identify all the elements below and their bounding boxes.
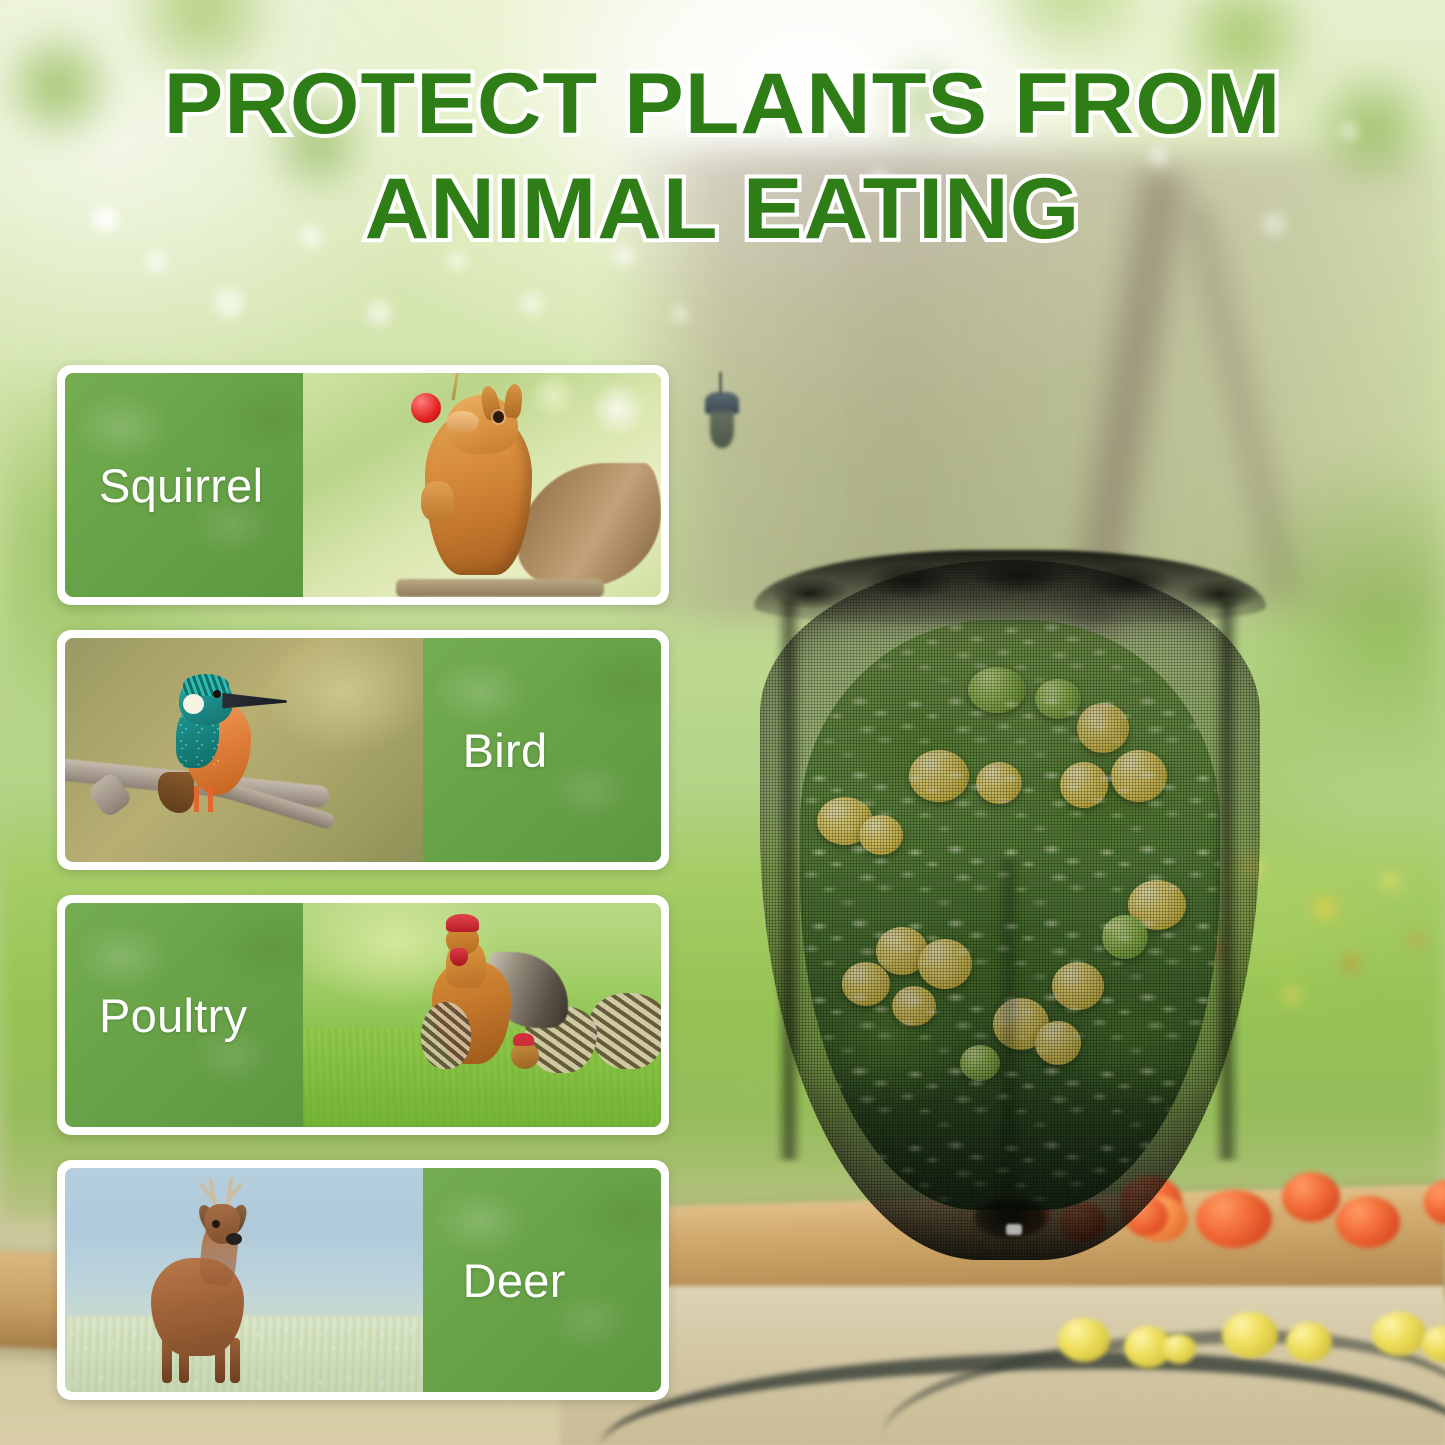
red-tomato bbox=[1282, 1172, 1340, 1222]
squirrel-arm bbox=[421, 481, 453, 521]
deer-nose bbox=[226, 1233, 242, 1245]
yellow-fruit bbox=[1162, 1334, 1196, 1364]
squirrel-tail bbox=[518, 463, 661, 588]
squirrel-ear bbox=[504, 383, 524, 419]
label-panel-bird: Bird bbox=[423, 638, 661, 862]
lantern-hanger-icon bbox=[719, 372, 722, 394]
animal-card-deer[interactable]: Deer bbox=[57, 1160, 669, 1400]
hanging-string bbox=[451, 373, 459, 400]
hen-comb bbox=[513, 1033, 534, 1046]
bokeh-dot bbox=[214, 288, 244, 318]
tree-branch-perch bbox=[396, 579, 603, 597]
animal-card-bird[interactable]: Bird bbox=[57, 630, 669, 870]
rooster-wattle bbox=[450, 948, 468, 966]
hen bbox=[589, 993, 661, 1069]
animal-photo-squirrel bbox=[303, 373, 661, 597]
animal-label: Deer bbox=[423, 1253, 600, 1308]
label-panel-squirrel: Squirrel bbox=[65, 373, 303, 597]
net-drawstring-tie bbox=[1006, 1224, 1022, 1235]
rooster-comb bbox=[446, 914, 478, 932]
bokeh-dot bbox=[448, 252, 466, 270]
bokeh-dot bbox=[1262, 212, 1286, 236]
bokeh-dot bbox=[1340, 122, 1358, 140]
bokeh-dot bbox=[1148, 146, 1168, 166]
deer-leg bbox=[230, 1338, 240, 1383]
squirrel-muzzle bbox=[446, 411, 478, 433]
animal-card-squirrel[interactable]: Squirrel bbox=[57, 365, 669, 605]
deer-eye bbox=[212, 1220, 220, 1228]
label-panel-poultry: Poultry bbox=[65, 903, 303, 1127]
squirrel-eye bbox=[493, 411, 504, 423]
animal-card-poultry[interactable]: Poultry bbox=[57, 895, 669, 1135]
net-fold-right bbox=[1214, 600, 1240, 1160]
bird-tail bbox=[158, 772, 194, 812]
animal-list: Squirrel Bird bbox=[57, 365, 669, 1425]
bird-leg bbox=[194, 786, 199, 812]
animal-label: Bird bbox=[423, 723, 582, 778]
bokeh-dot bbox=[366, 300, 392, 326]
bokeh-dot bbox=[300, 226, 322, 248]
bird-eye bbox=[213, 690, 221, 698]
red-tomato bbox=[1336, 1196, 1400, 1248]
animal-label: Squirrel bbox=[65, 458, 297, 513]
bokeh-dot bbox=[614, 246, 634, 266]
bird-crown bbox=[183, 674, 229, 696]
net-fold-center bbox=[996, 860, 1022, 1200]
yellow-fruit bbox=[1286, 1322, 1332, 1362]
animal-photo-deer bbox=[65, 1168, 423, 1392]
bokeh-dot bbox=[868, 168, 890, 190]
yellow-fruit bbox=[1058, 1318, 1110, 1362]
yellow-fruit bbox=[1372, 1312, 1426, 1356]
bokeh-dot bbox=[92, 206, 118, 232]
net-wavy-edge bbox=[760, 554, 1260, 610]
bokeh-dot bbox=[520, 292, 544, 316]
bird-beak bbox=[222, 693, 286, 709]
rooster-breast bbox=[421, 1002, 471, 1069]
animal-photo-bird bbox=[65, 638, 423, 862]
bokeh-dot bbox=[146, 252, 166, 272]
animal-label: Poultry bbox=[65, 988, 281, 1043]
animal-photo-poultry bbox=[303, 903, 661, 1127]
raspberry bbox=[411, 393, 441, 423]
net-fold-left bbox=[776, 600, 802, 1160]
bird-leg bbox=[208, 786, 213, 812]
label-panel-deer: Deer bbox=[423, 1168, 661, 1392]
bokeh-dot bbox=[672, 306, 688, 322]
meadow-ground bbox=[65, 1316, 423, 1392]
lantern-body-icon bbox=[710, 410, 734, 448]
product-mesh-bag-over-plant bbox=[760, 560, 1260, 1260]
yellow-fruit bbox=[1222, 1312, 1278, 1358]
